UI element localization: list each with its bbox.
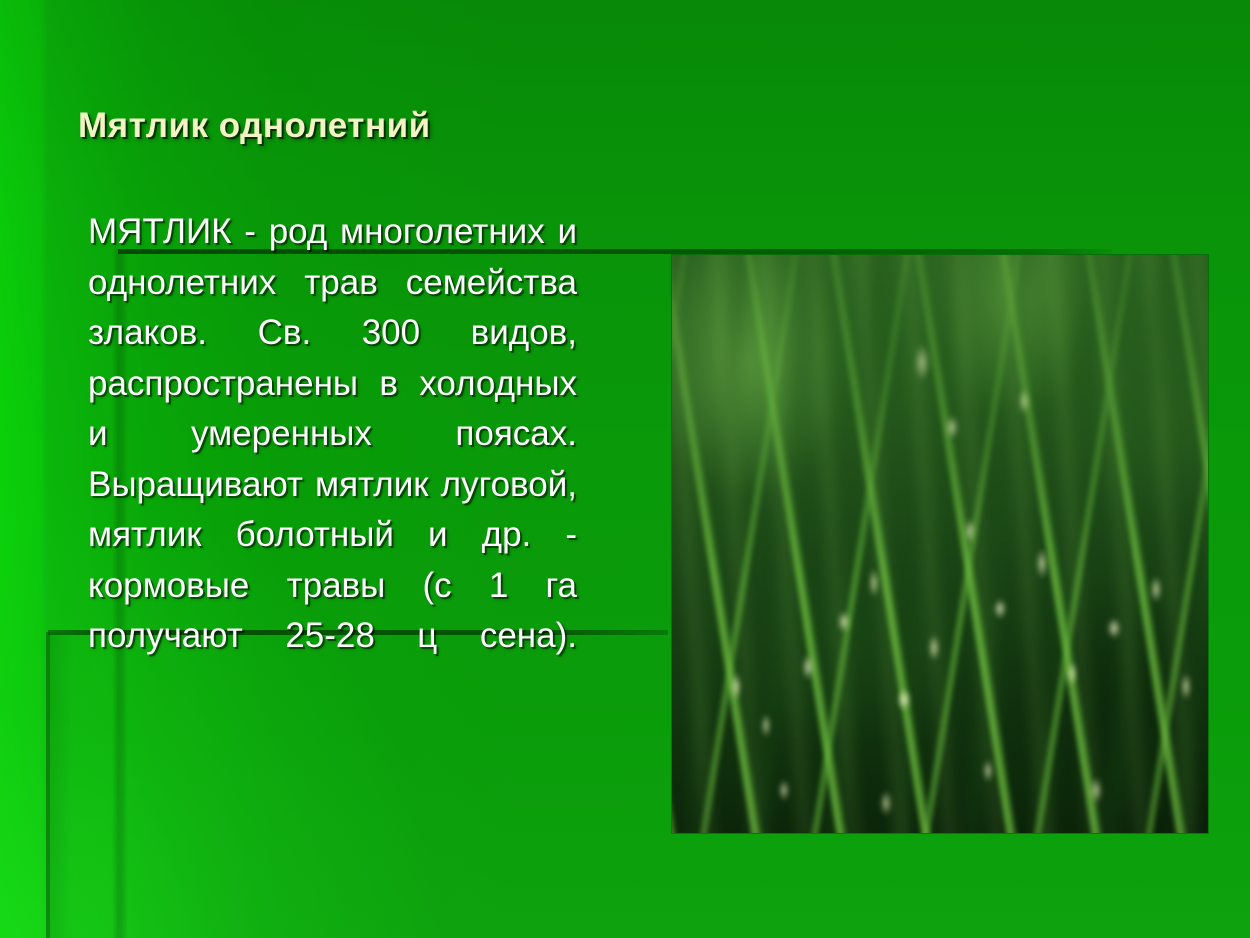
photo-vignette-layer xyxy=(672,255,1208,833)
presentation-slide: Мятлик однолетний МЯТЛИК - род многолетн… xyxy=(0,0,1250,938)
slide-body-text: МЯТЛИК - род многолетних и однолетних тр… xyxy=(88,207,577,662)
decorative-panel-edge xyxy=(46,632,50,938)
slide-title: Мятлик однолетний xyxy=(78,106,431,146)
body-paragraph: МЯТЛИК - род многолетних и однолетних тр… xyxy=(88,207,577,662)
grass-photo xyxy=(672,255,1208,833)
